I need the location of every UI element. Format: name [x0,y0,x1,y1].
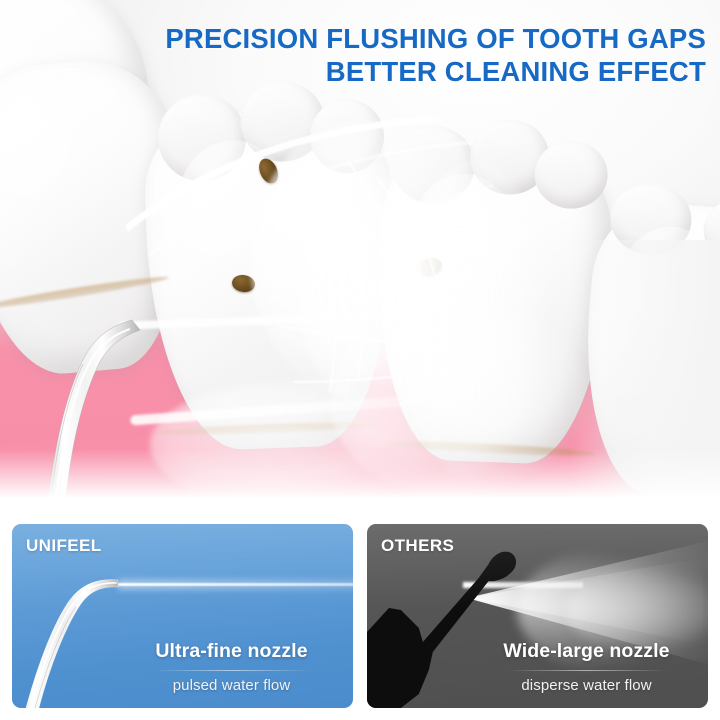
caption-divider [507,670,667,671]
caption-unifeel: Ultra-fine nozzle pulsed water flow [124,640,339,694]
comparison-section: UNIFEEL U [0,509,720,720]
nozzle-subtitle-others: disperse water flow [479,677,694,694]
brand-label-others: OTHERS [381,536,454,556]
nozzle-title-unifeel: Ultra-fine nozzle [124,640,339,670]
panel-others[interactable]: OTHERS [367,524,708,708]
headline-line-1: PRECISION FLUSHING OF TOOTH GAPS [0,22,706,55]
caption-others: Wide-large nozzle disperse water flow [479,640,694,694]
hero-bottom-fade [0,449,720,509]
caption-divider [152,670,312,671]
headline-line-2: BETTER CLEANING EFFECT [0,55,706,88]
brand-label-unifeel: UNIFEEL [26,536,102,556]
panel-unifeel[interactable]: UNIFEEL U [12,524,353,708]
nozzle-title-others: Wide-large nozzle [479,640,694,670]
nozzle-subtitle-unifeel: pulsed water flow [124,677,339,694]
page-title: PRECISION FLUSHING OF TOOTH GAPS BETTER … [0,22,720,88]
pulsed-water-stream [118,583,353,586]
product-feature-poster: PRECISION FLUSHING OF TOOTH GAPS BETTER … [0,0,720,720]
